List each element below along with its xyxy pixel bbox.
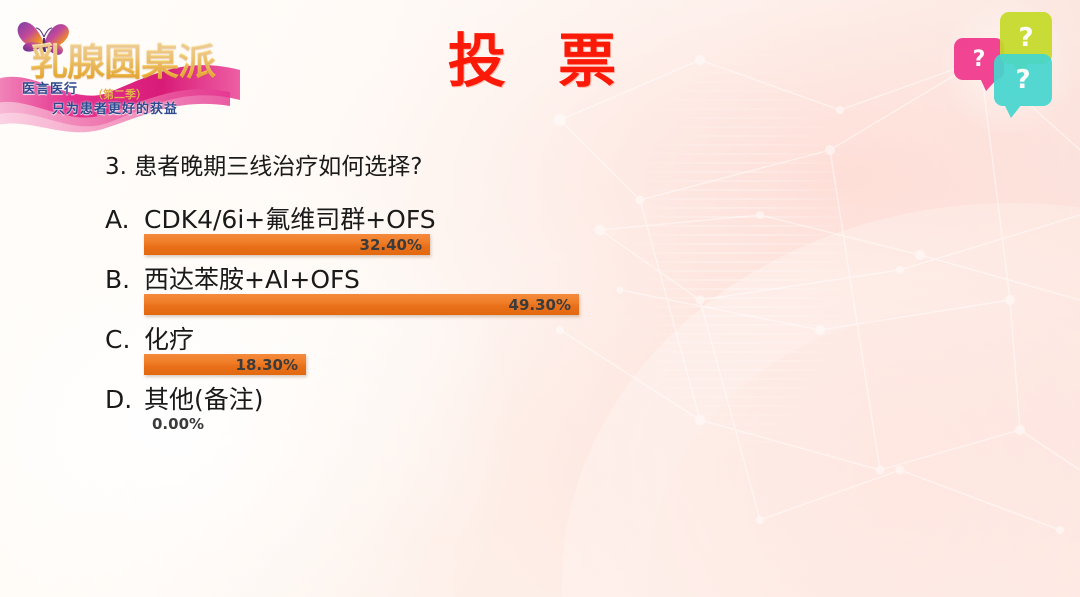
poll-option-b[interactable]: B. 西达苯胺+AI+OFS 49.30% [105,260,805,320]
poll-option-b-letter: B. [105,265,144,294]
poll-block: 3. 患者晚期三线治疗如何选择? A. CDK4/6i+氟维司群+OFS 32.… [105,152,805,440]
poll-option-a[interactable]: A. CDK4/6i+氟维司群+OFS 32.40% [105,200,805,260]
poll-option-a-bar: 32.40% [144,234,430,255]
poll-option-d-percent: 0.00% [152,415,204,433]
poll-option-c-text: 化疗 [144,320,194,356]
page-title: 投 票 [0,27,1080,95]
poll-option-a-percent: 32.40% [360,236,430,254]
speech-bubble-green-glyph: ? [1018,23,1033,53]
poll-option-b-bar: 49.30% [144,294,579,315]
poll-option-b-text: 西达苯胺+AI+OFS [144,260,360,296]
poll-option-d[interactable]: D. 其他(备注) 0.00% [105,380,805,440]
poll-option-a-line: A. CDK4/6i+氟维司群+OFS [105,200,805,234]
speech-bubble-cyan-icon: ? [994,54,1052,106]
poll-option-c-bar-row: 18.30% [144,354,805,380]
poll-option-c[interactable]: C. 化疗 18.30% [105,320,805,380]
poll-option-c-bar: 18.30% [144,354,306,375]
poll-option-a-letter: A. [105,205,144,234]
poll-option-d-text: 其他(备注) [144,380,264,416]
poll-option-d-line: D. 其他(备注) [105,380,805,414]
speech-bubble-cyan-glyph: ? [1015,65,1030,95]
poll-option-c-letter: C. [105,325,144,354]
speech-bubble-pink-glyph: ? [973,47,986,72]
poll-slide: 乳腺圆桌派 （第二季） 医言医行 只为患者更好的获益 投 票 ? ? ? 3. … [0,0,1080,597]
poll-option-b-percent: 49.30% [509,296,579,314]
poll-option-d-bar-row: 0.00% [144,414,805,440]
poll-option-b-line: B. 西达苯胺+AI+OFS [105,260,805,294]
poll-option-c-line: C. 化疗 [105,320,805,354]
poll-options-list: A. CDK4/6i+氟维司群+OFS 32.40% B. 西达苯胺+AI+OF… [105,200,805,440]
poll-question: 3. 患者晚期三线治疗如何选择? [105,152,805,182]
poll-option-d-letter: D. [105,385,144,414]
poll-option-a-bar-row: 32.40% [144,234,805,260]
poll-option-b-bar-row: 49.30% [144,294,805,320]
logo-tagline-line-2: 只为患者更好的获益 [52,98,178,117]
poll-option-a-text: CDK4/6i+氟维司群+OFS [144,200,436,236]
question-bubbles-decoration: ? ? ? [948,10,1068,122]
poll-option-c-percent: 18.30% [236,356,306,374]
